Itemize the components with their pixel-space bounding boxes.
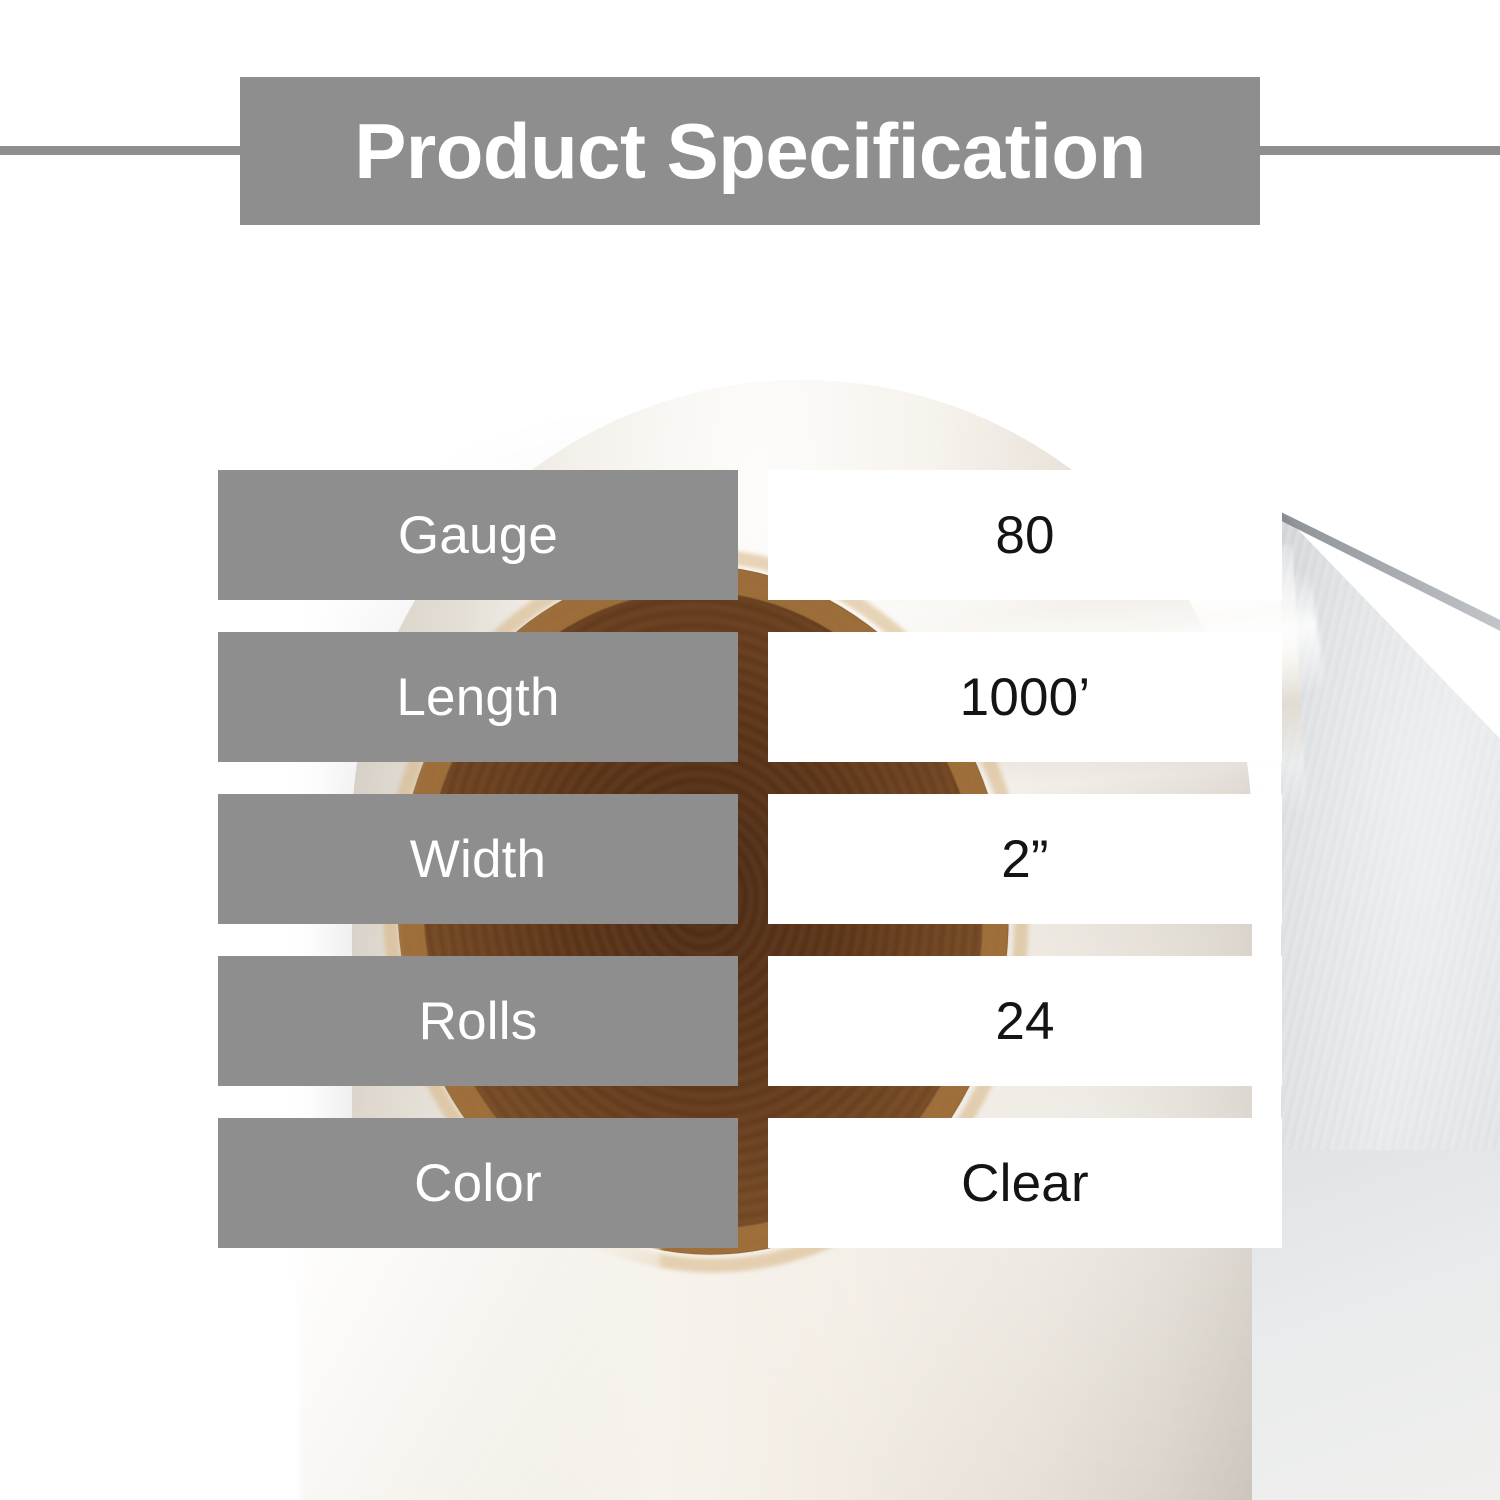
spec-value-length: 1000’ xyxy=(768,632,1282,762)
spec-value-text: 24 xyxy=(995,995,1054,1048)
table-row: Length 1000’ xyxy=(218,632,1282,762)
product-specification-graphic: Product Specification Gauge 80 Length 10… xyxy=(0,0,1500,1500)
spec-label-text: Rolls xyxy=(419,995,538,1048)
table-row: Rolls 24 xyxy=(218,956,1282,1086)
spec-label-text: Color xyxy=(414,1157,542,1210)
title-banner: Product Specification xyxy=(240,77,1260,225)
table-row: Color Clear xyxy=(218,1118,1282,1248)
spec-label-rolls: Rolls xyxy=(218,956,738,1086)
spec-value-text: 1000’ xyxy=(960,671,1091,724)
spec-label-color: Color xyxy=(218,1118,738,1248)
spec-label-text: Length xyxy=(396,671,559,724)
header-rule-left xyxy=(0,146,250,155)
spec-value-text: Clear xyxy=(961,1157,1089,1210)
spec-label-width: Width xyxy=(218,794,738,924)
spec-label-length: Length xyxy=(218,632,738,762)
page-title: Product Specification xyxy=(354,112,1145,190)
spec-value-rolls: 24 xyxy=(768,956,1282,1086)
spec-value-text: 2” xyxy=(1001,833,1049,886)
spec-label-text: Gauge xyxy=(398,509,558,562)
spec-value-text: 80 xyxy=(995,509,1054,562)
header-rule-right xyxy=(1250,146,1500,155)
table-row: Gauge 80 xyxy=(218,470,1282,600)
spec-value-width: 2” xyxy=(768,794,1282,924)
spec-value-gauge: 80 xyxy=(768,470,1282,600)
spec-label-gauge: Gauge xyxy=(218,470,738,600)
table-row: Width 2” xyxy=(218,794,1282,924)
spec-label-text: Width xyxy=(410,833,546,886)
spec-table: Gauge 80 Length 1000’ Width 2” Roll xyxy=(218,470,1282,1248)
spec-value-color: Clear xyxy=(768,1118,1282,1248)
